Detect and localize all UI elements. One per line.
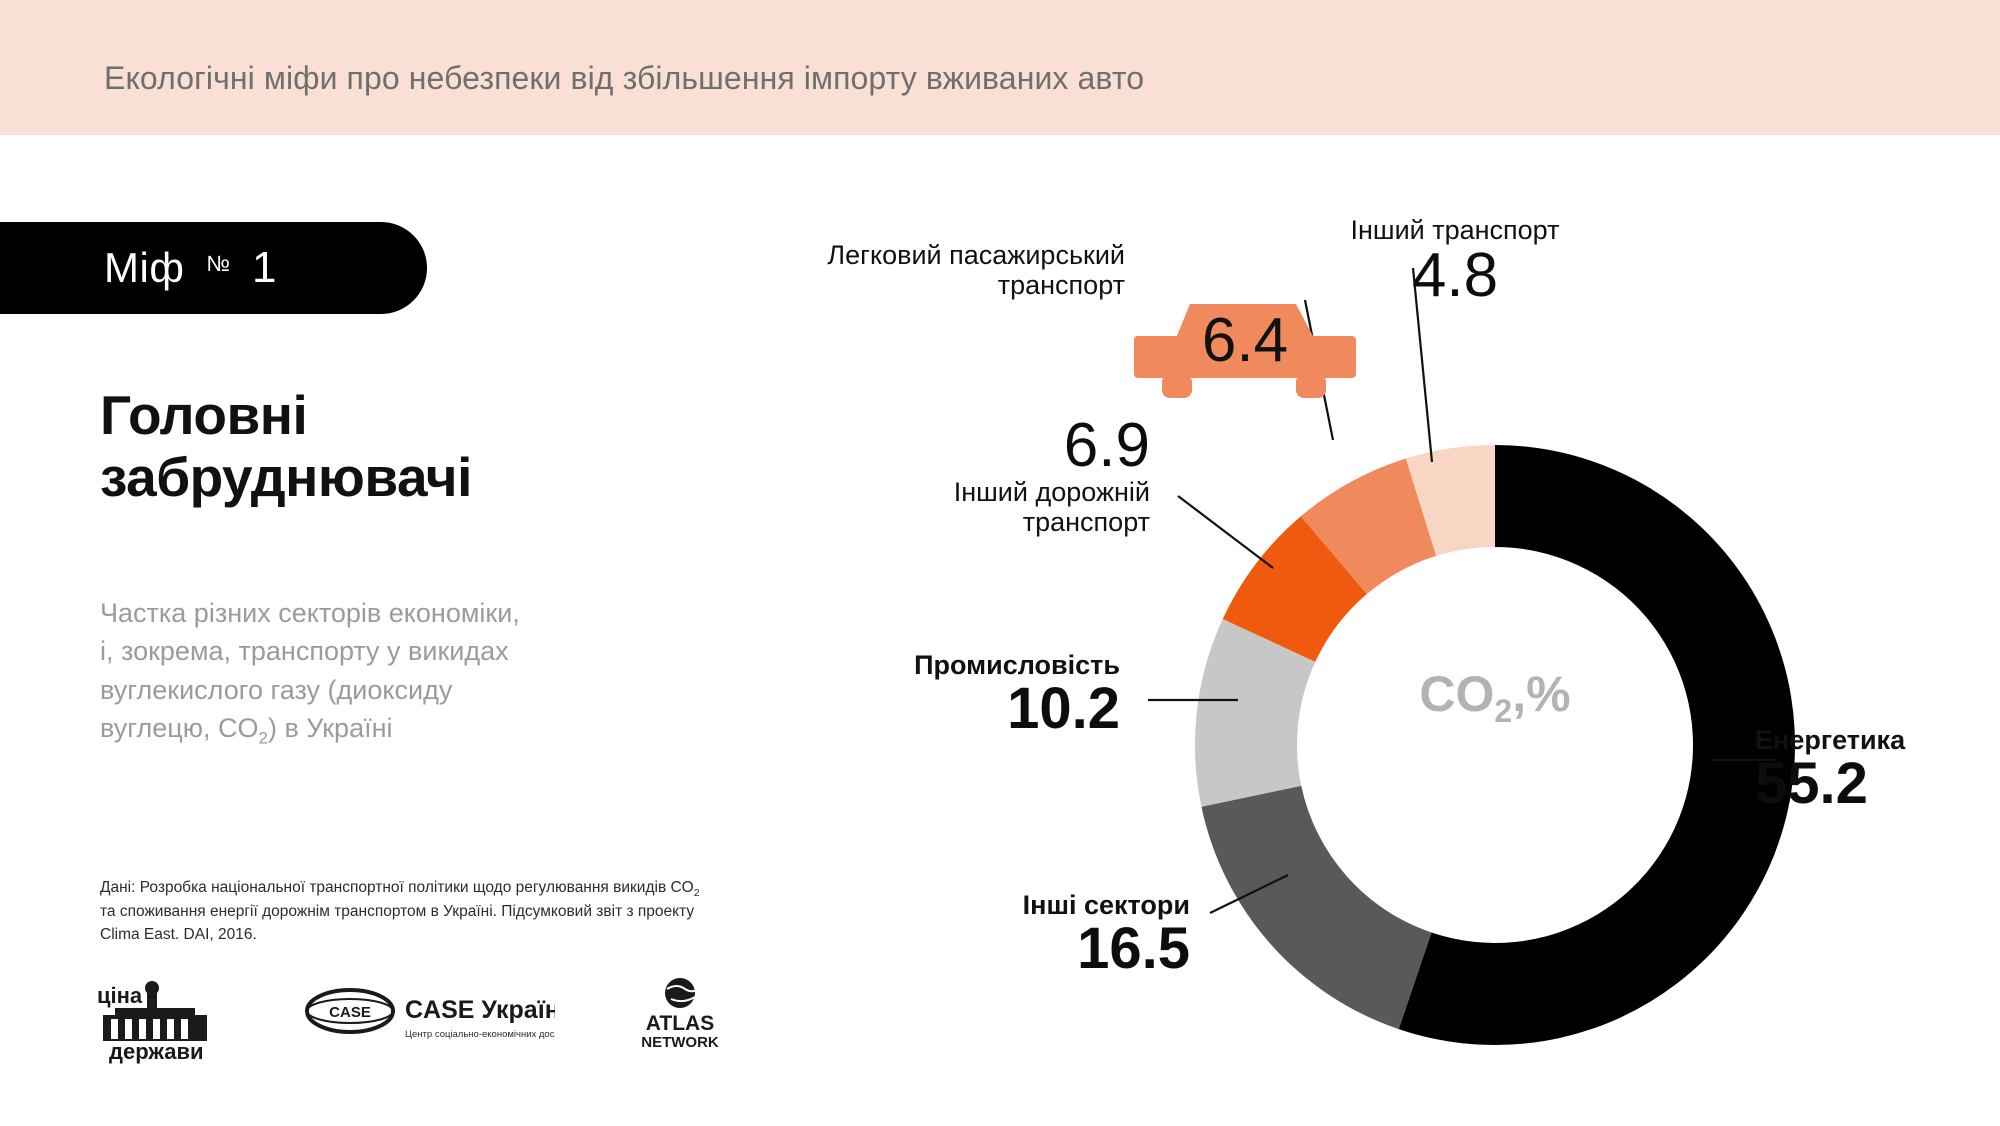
- lead-line-2: і, зокрема, транспорту у викидах: [100, 632, 720, 670]
- label-passenger-transport-line2: транспорт: [735, 270, 1125, 300]
- label-other-road-transport-line2: транспорт: [860, 507, 1150, 537]
- label-industry-value: 10.2: [780, 680, 1120, 738]
- lead-line-1: Частка різних секторів економіки,: [100, 594, 720, 632]
- donut-segment-2: [1201, 786, 1431, 1029]
- label-industry: Промисловість 10.2: [780, 650, 1120, 738]
- label-other-transport-value: 4.8: [1290, 245, 1620, 307]
- label-energy: Енергетика 55.2: [1755, 725, 1985, 813]
- svg-text:NETWORK: NETWORK: [641, 1034, 719, 1051]
- lead-line-4-pre: вуглецю, CO: [100, 713, 259, 743]
- label-other-transport: Інший транспорт 4.8: [1290, 215, 1620, 307]
- lead-co2-subscript: 2: [259, 728, 268, 747]
- header-title: Екологічні міфи про небезпеки від збільш…: [104, 60, 1144, 97]
- label-passenger-transport-line1: Легковий пасажирський: [735, 240, 1125, 270]
- source-note: Дані: Розробка національної транспортної…: [100, 877, 860, 946]
- lead-line-4: вуглецю, CO2) в Україні: [100, 709, 720, 751]
- donut-chart: [1190, 440, 1800, 1050]
- lead-line-4-post: ) в Україні: [268, 713, 393, 743]
- label-other-road-transport-line1: Інший дорожній: [860, 477, 1150, 507]
- center-co2-subscript: 2: [1494, 693, 1512, 729]
- svg-text:держави: держави: [109, 1039, 204, 1064]
- atlas-network-logo-icon: ATLAS NETWORK: [615, 975, 745, 1055]
- myth-label: Міф: [104, 244, 184, 292]
- lead-paragraph: Частка різних секторів економіки, і, зок…: [100, 594, 720, 751]
- tsina-derzhavy-logo-icon: ціна держави: [95, 975, 225, 1065]
- myth-badge: Міф № 1: [0, 222, 427, 314]
- svg-text:ATLAS: ATLAS: [646, 1012, 714, 1035]
- passenger-transport-value-on-car: 6.4: [1150, 305, 1340, 376]
- logo-row: ціна держави CASE CASE Україна Цен: [95, 975, 815, 1065]
- label-other-road-transport: 6.9 Інший дорожній транспорт: [860, 415, 1150, 537]
- tsina-derzhavy-logo: ціна держави: [95, 975, 225, 1070]
- donut-chart-svg: [1190, 440, 1800, 1050]
- svg-text:CASE: CASE: [329, 1004, 371, 1021]
- center-percent-suffix: ,%: [1512, 666, 1570, 722]
- atlas-network-logo: ATLAS NETWORK: [615, 975, 735, 1060]
- header-band: Екологічні міфи про небезпеки від збільш…: [0, 0, 2000, 135]
- chart-center-label: CO2,%: [1400, 665, 1590, 730]
- case-ukraine-logo: CASE CASE Україна Центр соціально-економ…: [305, 975, 545, 1060]
- case-ukraine-logo-icon: CASE CASE Україна Центр соціально-економ…: [305, 975, 555, 1055]
- label-other-sectors: Інші сектори 16.5: [830, 890, 1190, 978]
- svg-text:CASE Україна: CASE Україна: [405, 996, 555, 1024]
- source-co2-subscript: 2: [694, 887, 700, 899]
- source-line-3: Clima East. DAI, 2016.: [100, 924, 860, 946]
- lead-line-3: вуглекислого газу (диоксиду: [100, 671, 720, 709]
- myth-number: 1: [252, 243, 276, 293]
- source-line-2: та споживання енергії дорожнім транспорт…: [100, 901, 860, 923]
- label-passenger-transport: Легковий пасажирський транспорт: [735, 240, 1125, 300]
- label-other-road-transport-value: 6.9: [860, 415, 1150, 477]
- source-line-1-text: Дані: Розробка національної транспортної…: [100, 879, 694, 896]
- svg-text:Центр соціально-економічних до: Центр соціально-економічних досліджень: [405, 1029, 555, 1040]
- center-co2-text: CO: [1419, 666, 1494, 722]
- source-line-1: Дані: Розробка національної транспортної…: [100, 877, 860, 901]
- label-energy-value: 55.2: [1755, 755, 1985, 813]
- page-title: Головні забруднювачі: [100, 385, 660, 508]
- label-other-sectors-value: 16.5: [830, 920, 1190, 978]
- number-sign: №: [206, 251, 230, 277]
- svg-text:ціна: ціна: [97, 983, 143, 1008]
